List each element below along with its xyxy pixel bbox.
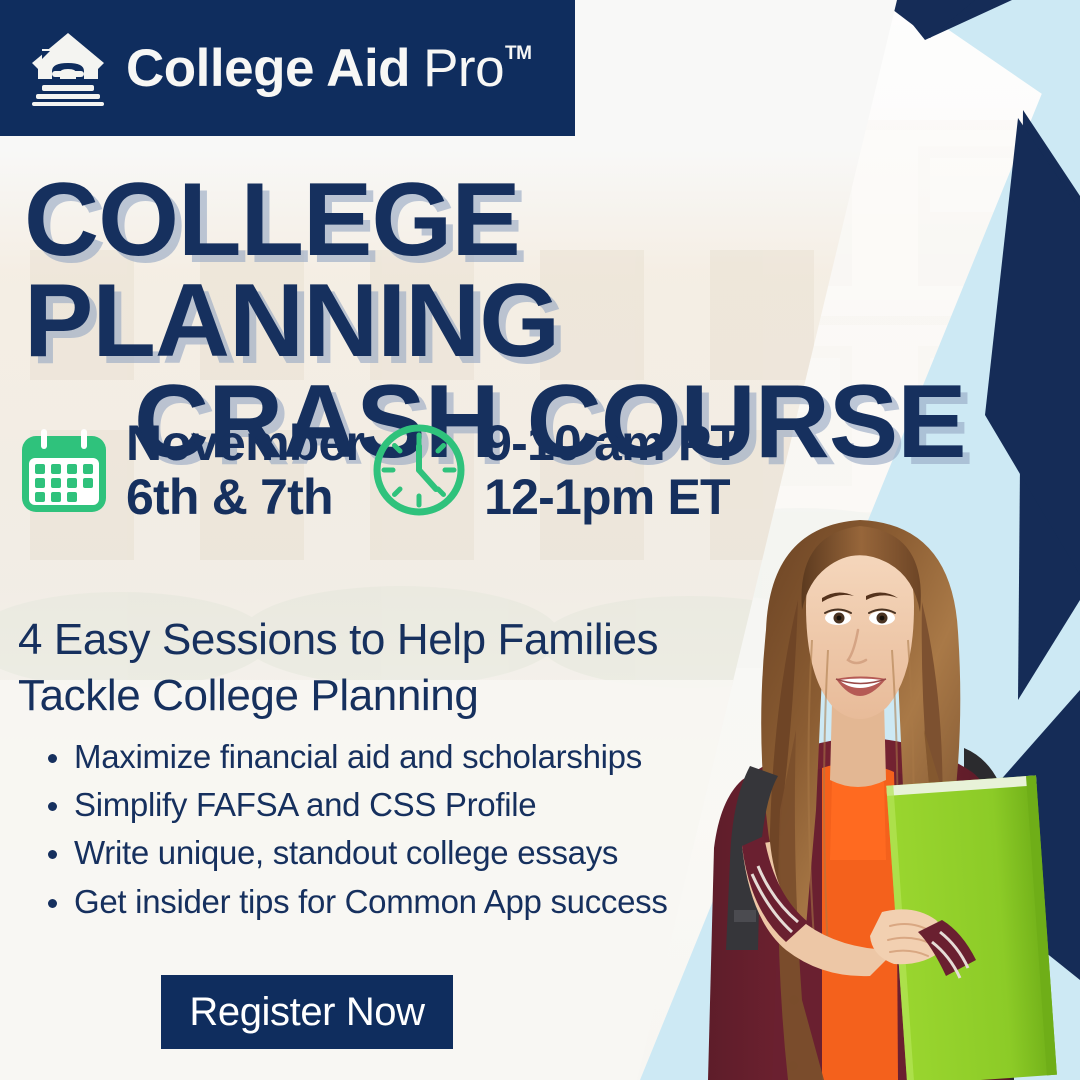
promotional-poster: College Aid Pro TM COLLEGE PLANNING CRAS… xyxy=(0,0,1080,1080)
list-item: Maximize financial aid and scholarships xyxy=(74,733,668,781)
list-item: Get insider tips for Common App success xyxy=(74,878,668,926)
college-building-logo-icon xyxy=(26,29,110,107)
brand-name-light: Pro xyxy=(423,42,504,95)
subheading-line-2: Tackle College Planning xyxy=(18,668,658,724)
list-item: Simplify FAFSA and CSS Profile xyxy=(74,781,668,829)
headline-line-1: COLLEGE PLANNING xyxy=(24,170,1044,372)
clock-icon xyxy=(370,421,468,519)
event-date-line-1: November xyxy=(126,416,364,470)
trademark-symbol: TM xyxy=(505,44,531,63)
list-item: Write unique, standout college essays xyxy=(74,829,668,877)
subheading: 4 Easy Sessions to Help Families Tackle … xyxy=(18,612,658,725)
event-date-group: November 6th & 7th xyxy=(16,416,364,524)
subheading-line-1: 4 Easy Sessions to Help Families xyxy=(18,612,658,668)
event-time-line-1: 9-10 am PT xyxy=(484,416,740,470)
brand-name: College Aid Pro TM xyxy=(126,42,531,95)
student-photo xyxy=(646,480,1080,1080)
brand-logo-bar: College Aid Pro TM xyxy=(0,0,575,136)
brand-name-bold: College Aid xyxy=(126,42,410,95)
calendar-icon xyxy=(16,422,112,518)
event-datetime-row: November 6th & 7th xyxy=(16,416,740,524)
event-date-line-2: 6th & 7th xyxy=(126,470,364,524)
event-date-text: November 6th & 7th xyxy=(126,416,364,524)
register-now-button[interactable]: Register Now xyxy=(161,975,453,1049)
benefits-list: Maximize financial aid and scholarships … xyxy=(36,733,668,926)
